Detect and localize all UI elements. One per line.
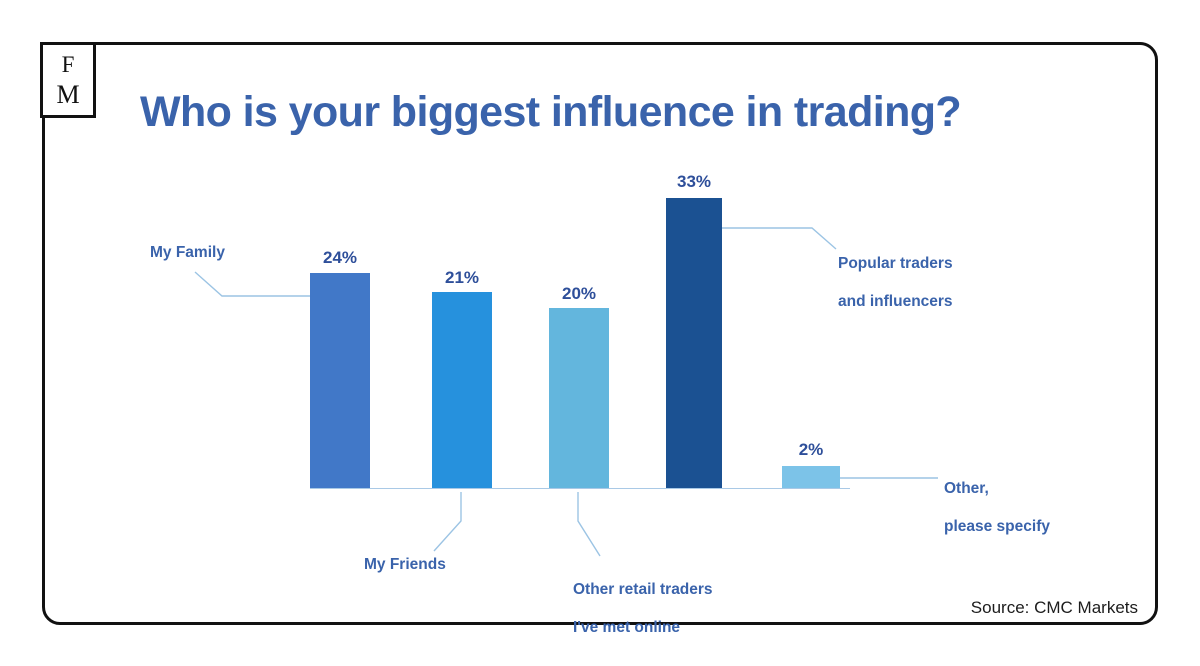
- bar-callout-other-retail-traders-line2: I've met online: [573, 619, 680, 636]
- bar-other-retail-traders[interactable]: [549, 308, 609, 488]
- bar-callout-other-please-specify-line1: Other,: [944, 480, 989, 497]
- chart-baseline: [310, 488, 850, 489]
- bar-callout-other-retail-traders: Other retail traders I've met online: [573, 562, 713, 638]
- bar-callout-other-please-specify: Other, please specify: [944, 461, 1050, 537]
- bar-value-other-please-specify: 2%: [782, 440, 840, 460]
- bar-callout-popular-traders: Popular traders and influencers: [838, 236, 953, 312]
- bar-callout-my-friends-line1: My Friends: [364, 556, 446, 573]
- bar-other-please-specify[interactable]: [782, 466, 840, 488]
- bar-my-family[interactable]: [310, 273, 370, 488]
- bar-value-popular-traders: 33%: [666, 172, 722, 192]
- bar-callout-my-friends: My Friends: [364, 556, 446, 575]
- bar-callout-other-please-specify-line2: please specify: [944, 518, 1050, 535]
- bar-callout-other-retail-traders-line1: Other retail traders: [573, 581, 713, 598]
- bar-popular-traders[interactable]: [666, 198, 722, 488]
- bar-callout-my-family-line1: My Family: [150, 244, 225, 261]
- bar-callout-my-family: My Family: [150, 244, 225, 263]
- bar-value-other-retail-traders: 20%: [549, 284, 609, 304]
- bar-callout-popular-traders-line2: and influencers: [838, 293, 953, 310]
- bar-callout-popular-traders-line1: Popular traders: [838, 255, 953, 272]
- bar-value-my-family: 24%: [310, 248, 370, 268]
- bar-value-my-friends: 21%: [432, 268, 492, 288]
- infographic-canvas: F M Who is your biggest influence in tra…: [0, 0, 1200, 666]
- source-attribution: Source: CMC Markets: [971, 598, 1138, 618]
- bar-my-friends[interactable]: [432, 292, 492, 488]
- bar-chart: 24% My Family 21% My Friends 20% Other r…: [0, 0, 1200, 666]
